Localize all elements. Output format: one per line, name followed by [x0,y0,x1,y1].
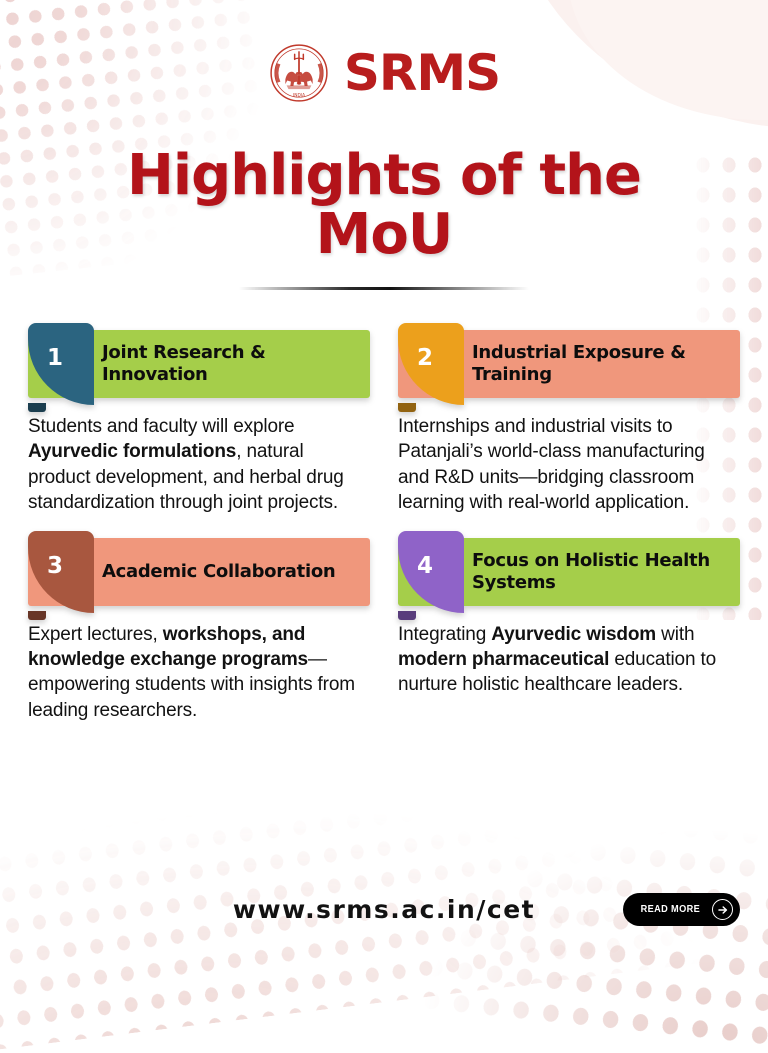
page-title: Highlights of the MoU [0,146,768,265]
card-body: Students and faculty will explore Ayurve… [28,414,370,516]
highlights-grid: 1 Joint Research & Innovation Students a… [0,330,768,724]
card-header: 2 Industrial Exposure & Training [398,330,740,398]
card-number: 4 [417,553,433,579]
highlight-card-2: 2 Industrial Exposure & Training Interns… [398,330,740,516]
card-number: 3 [47,553,63,579]
title-divider [239,287,529,290]
card-title: Joint Research & Innovation [102,342,370,384]
svg-text:INDIA: INDIA [293,93,305,99]
card-body: Integrating Ayurvedic wisdom with modern… [398,622,740,698]
highlight-card-3: 3 Academic Collaboration Expert lectures… [28,538,370,724]
website-url[interactable]: www.srms.ac.in/cet [233,895,535,924]
card-header: 1 Joint Research & Innovation [28,330,370,398]
brand-name: SRMS [344,48,500,98]
badge-fold [28,611,46,620]
badge-fold [28,403,46,412]
card-number: 1 [47,345,63,371]
card-body: Expert lectures, workshops, and knowledg… [28,622,370,724]
read-more-button[interactable]: READ MORE [623,893,740,926]
card-title: Industrial Exposure & Training [472,342,740,384]
card-title: Focus on Holistic Health Systems [472,550,740,592]
highlight-card-4: 4 Focus on Holistic Health Systems Integ… [398,538,740,724]
srms-crest-icon: INDIA [268,42,330,104]
read-more-label: READ MORE [641,904,701,915]
card-body: Internships and industrial visits to Pat… [398,414,740,516]
card-title: Academic Collaboration [102,561,335,582]
card-number: 2 [417,345,433,371]
badge-fold [398,403,416,412]
poster-canvas: INDIA SRMS Highlights of the MoU 1 Joint… [0,0,768,960]
footer: www.srms.ac.in/cet READ MORE [0,895,768,924]
card-header: 4 Focus on Holistic Health Systems [398,538,740,606]
badge-fold [398,611,416,620]
brand-header: INDIA SRMS [0,0,768,104]
highlight-card-1: 1 Joint Research & Innovation Students a… [28,330,370,516]
card-header: 3 Academic Collaboration [28,538,370,606]
arrow-right-icon [712,899,733,920]
